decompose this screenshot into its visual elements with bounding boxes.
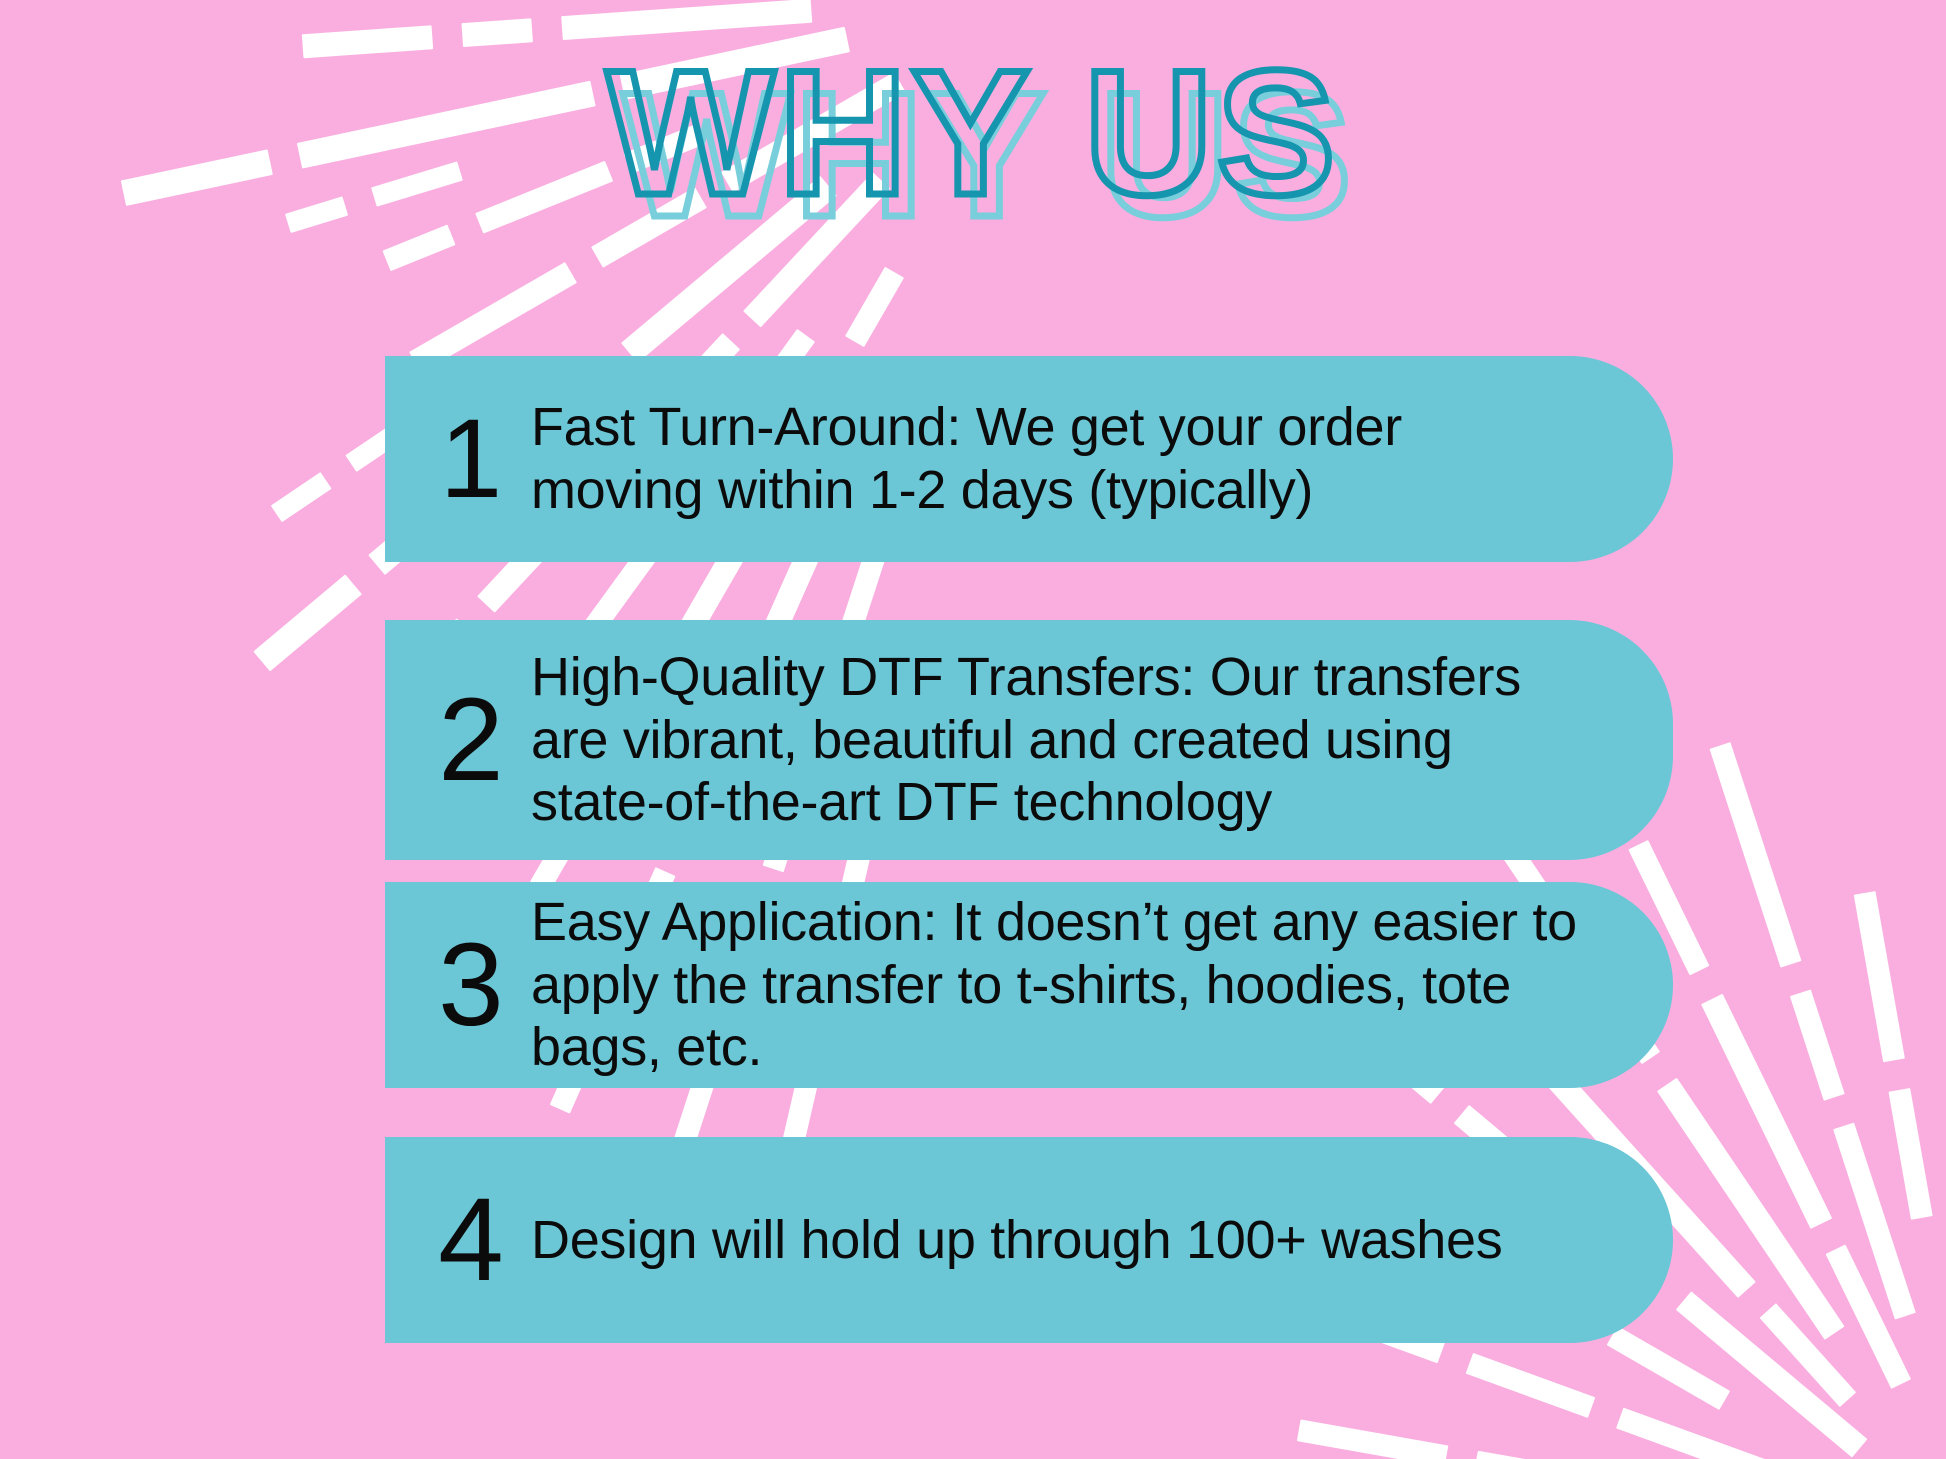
decorative-stripe — [845, 267, 904, 347]
decorative-stripe — [271, 472, 332, 522]
decorative-stripe — [1297, 1419, 1449, 1459]
benefit-card-1: 1 Fast Turn-Around: We get your order mo… — [385, 356, 1673, 562]
benefit-text-1: Fast Turn-Around: We get your order movi… — [517, 396, 1583, 521]
decorative-stripe — [1607, 1326, 1731, 1410]
decorative-stripe — [1790, 989, 1845, 1100]
benefit-card-2: 2 High-Quality DTF Transfers: Our transf… — [385, 620, 1673, 860]
benefit-number-4: 4 — [425, 1181, 517, 1299]
decorative-stripe — [1888, 1088, 1932, 1220]
decorative-stripe — [1676, 1291, 1868, 1457]
decorative-stripe — [1657, 1078, 1845, 1340]
benefit-text-3: Easy Application: It doesn’t get any eas… — [517, 891, 1583, 1079]
decorative-stripe — [1474, 1451, 1566, 1459]
poster-title: WHY US WHY US — [0, 48, 1946, 218]
poster-canvas: WHY US WHY US 1 Fast Turn-Around: We get… — [0, 0, 1946, 1459]
title-outline-layer: WHY US — [0, 48, 1946, 218]
benefit-number-1: 1 — [425, 403, 517, 515]
decorative-stripe — [253, 574, 362, 671]
decorative-stripe — [1701, 994, 1832, 1229]
decorative-stripe — [1760, 1303, 1857, 1407]
benefit-number-2: 2 — [425, 681, 517, 799]
decorative-stripe — [1616, 1408, 1783, 1459]
benefit-number-3: 3 — [425, 926, 517, 1044]
benefit-card-4: 4 Design will hold up through 100+ washe… — [385, 1137, 1673, 1343]
decorative-stripe — [1854, 891, 1905, 1062]
decorative-stripe — [1466, 1353, 1596, 1418]
decorative-stripe — [461, 18, 533, 47]
benefit-text-2: High-Quality DTF Transfers: Our transfer… — [517, 646, 1583, 834]
decorative-stripe — [1833, 1123, 1916, 1320]
decorative-stripe — [1710, 742, 1802, 968]
benefit-card-3: 3 Easy Application: It doesn’t get any e… — [385, 882, 1673, 1088]
decorative-stripe — [1826, 1244, 1912, 1388]
benefit-text-4: Design will hold up through 100+ washes — [517, 1209, 1502, 1272]
